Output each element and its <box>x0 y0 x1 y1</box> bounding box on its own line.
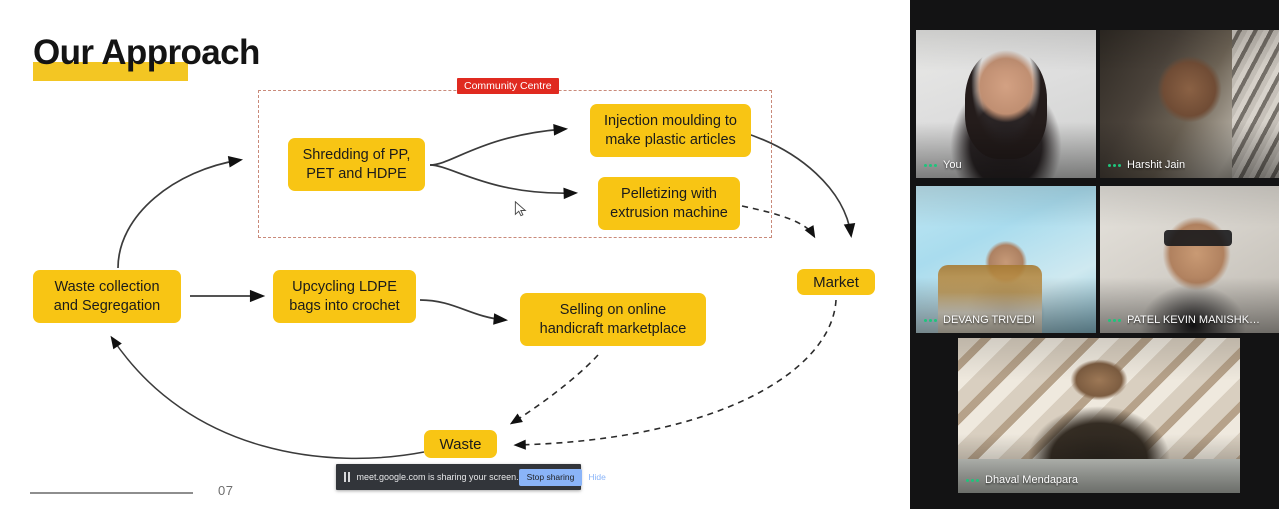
node-upcycling-label: Upcycling LDPE bags into crochet <box>289 278 399 316</box>
video-tile-you[interactable]: You <box>916 30 1096 178</box>
node-waste: Waste <box>424 430 497 458</box>
page-title: Our Approach <box>33 33 260 73</box>
hide-button[interactable]: Hide <box>588 472 605 482</box>
video-tile-dhaval-mendapara[interactable]: Dhaval Mendapara <box>958 338 1240 493</box>
stop-sharing-button[interactable]: Stop sharing <box>519 469 583 486</box>
footer-rule <box>30 492 193 494</box>
participant-name: Harshit Jain <box>1127 159 1185 172</box>
tile-shading <box>1100 186 1279 333</box>
participant-name: You <box>943 159 962 172</box>
mic-activity-icon <box>924 319 937 322</box>
share-status-text: meet.google.com is sharing your screen. <box>357 472 519 482</box>
mic-activity-icon <box>1108 164 1121 167</box>
mic-activity-icon <box>966 479 979 482</box>
mic-activity-icon <box>1108 319 1121 322</box>
tile-label: DEVANG TRIVEDI <box>924 314 1035 327</box>
node-waste-collection: Waste collection and Segregation <box>33 270 181 323</box>
video-tile-devang-trivedi[interactable]: DEVANG TRIVEDI <box>916 186 1096 333</box>
node-pelletizing-label: Pelletizing with extrusion machine <box>610 185 728 223</box>
mic-activity-icon <box>924 164 937 167</box>
screen-share-toolbar[interactable]: meet.google.com is sharing your screen. … <box>336 464 581 490</box>
node-shredding-label: Shredding of PP, PET and HDPE <box>303 146 411 184</box>
screen-share-window: Our Approach Community Centre <box>0 0 1279 509</box>
tile-label: You <box>924 159 962 172</box>
pause-icon <box>344 472 350 482</box>
page-number: 07 <box>218 483 233 498</box>
tile-label: Harshit Jain <box>1108 159 1185 172</box>
node-injection-label: Injection moulding to make plastic artic… <box>604 112 737 150</box>
mouse-cursor-icon <box>514 201 528 217</box>
video-tile-harshit-jain[interactable]: Harshit Jain <box>1100 30 1279 178</box>
participant-name: DEVANG TRIVEDI <box>943 314 1035 327</box>
node-selling-online: Selling on online handicraft marketplace <box>520 293 706 346</box>
participant-name: PATEL KEVIN MANISHK… <box>1127 314 1260 327</box>
arrow-collection-to-shredding <box>118 160 240 268</box>
node-pelletizing: Pelletizing with extrusion machine <box>598 177 740 230</box>
node-market-label: Market <box>813 273 859 292</box>
tile-shading <box>1100 30 1279 178</box>
node-market: Market <box>797 269 875 295</box>
node-shredding: Shredding of PP, PET and HDPE <box>288 138 425 191</box>
tile-shading <box>958 338 1240 493</box>
video-tile-patel-kevin[interactable]: PATEL KEVIN MANISHK… <box>1100 186 1279 333</box>
participant-name: Dhaval Mendapara <box>985 474 1078 487</box>
arrow-waste-to-collection <box>112 338 424 458</box>
tile-shading <box>916 186 1096 333</box>
community-centre-label: Community Centre <box>457 78 559 94</box>
node-selling-label: Selling on online handicraft marketplace <box>540 301 687 339</box>
shared-slide: Our Approach Community Centre <box>0 0 910 509</box>
tile-shading <box>916 30 1096 178</box>
node-upcycling: Upcycling LDPE bags into crochet <box>273 270 416 323</box>
node-injection-moulding: Injection moulding to make plastic artic… <box>590 104 751 157</box>
node-waste-collection-label: Waste collection and Segregation <box>54 278 160 316</box>
tile-label: Dhaval Mendapara <box>966 474 1078 487</box>
tile-label: PATEL KEVIN MANISHK… <box>1108 314 1260 327</box>
arrow-upcycling-to-selling <box>420 300 505 320</box>
arrow-selling-to-waste <box>512 355 598 423</box>
node-waste-label: Waste <box>440 435 482 454</box>
